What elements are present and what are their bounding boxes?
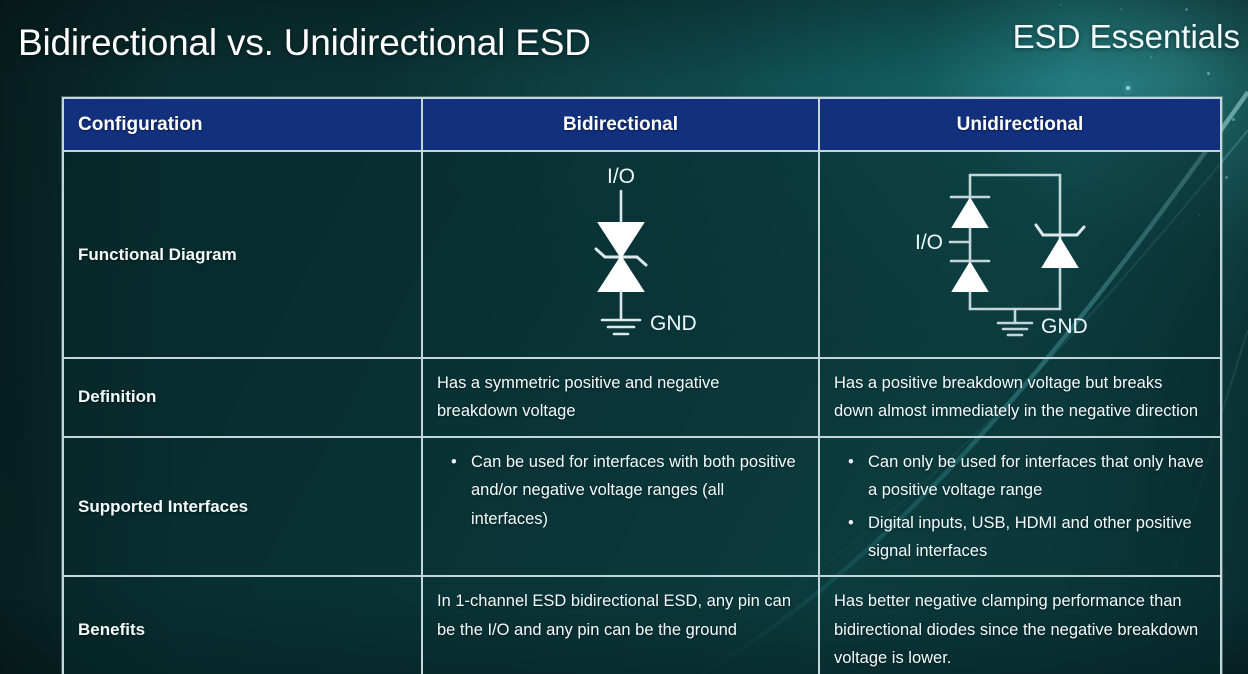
cell-benefits-unidirectional: Has better negative clamping performance… [820,577,1222,674]
bidirectional-tvs-schematic-icon: I/O [526,157,716,347]
cell-unidirectional-diagram: I/O [820,152,1222,359]
table-header: Configuration Bidirectional Unidirection… [62,97,1222,152]
particle-dot [1185,8,1188,11]
row-label-functional-diagram: Functional Diagram [62,152,423,359]
svg-text:I/O: I/O [915,231,943,254]
bullet-list: Can be used for interfaces with both pos… [437,448,804,533]
cell-definition-unidirectional: Has a positive breakdown voltage but bre… [820,359,1222,438]
table-header-row: Configuration Bidirectional Unidirection… [62,97,1222,152]
svg-text:GND: GND [650,312,697,335]
row-label-definition: Definition [62,359,423,438]
particle-dot [1207,72,1210,75]
particle-dot [1120,8,1122,10]
table-row: Functional Diagram I/O [62,152,1222,359]
column-header-configuration: Configuration [62,97,423,152]
slide-canvas: Bidirectional vs. Unidirectional ESD ESD… [0,0,1248,674]
particle-dot [1126,86,1130,90]
cell-benefits-bidirectional: In 1-channel ESD bidirectional ESD, any … [423,577,820,674]
row-label-benefits: Benefits [62,577,423,674]
svg-text:I/O: I/O [606,165,634,188]
cell-supported-interfaces-unidirectional: Can only be used for interfaces that onl… [820,438,1222,578]
unidirectional-tvs-schematic-icon: I/O [895,157,1145,347]
cell-supported-interfaces-bidirectional: Can be used for interfaces with both pos… [423,438,820,578]
table-row: Benefits In 1-channel ESD bidirectional … [62,577,1222,674]
list-item: Can be used for interfaces with both pos… [457,448,804,533]
list-item: Can only be used for interfaces that onl… [854,448,1206,505]
particle-dot [1225,176,1228,179]
table-row: Supported Interfaces Can be used for int… [62,438,1222,578]
table-row: Definition Has a symmetric positive and … [62,359,1222,438]
svg-text:GND: GND [1041,315,1088,338]
particle-dot [1150,56,1152,58]
table-body: Functional Diagram I/O [62,152,1222,674]
particle-dot [1232,118,1235,121]
esd-comparison-table: Configuration Bidirectional Unidirection… [62,97,1222,674]
slide-eyebrow-label: ESD Essentials [1013,18,1240,56]
list-item: Digital inputs, USB, HDMI and other posi… [854,509,1206,566]
column-header-bidirectional: Bidirectional [423,97,820,152]
cell-bidirectional-diagram: I/O [423,152,820,359]
cell-definition-bidirectional: Has a symmetric positive and negative br… [423,359,820,438]
column-header-unidirectional: Unidirectional [820,97,1222,152]
page-title: Bidirectional vs. Unidirectional ESD [18,22,591,64]
particle-dot [1060,4,1062,6]
row-label-supported-interfaces: Supported Interfaces [62,438,423,578]
bullet-list: Can only be used for interfaces that onl… [834,448,1206,566]
